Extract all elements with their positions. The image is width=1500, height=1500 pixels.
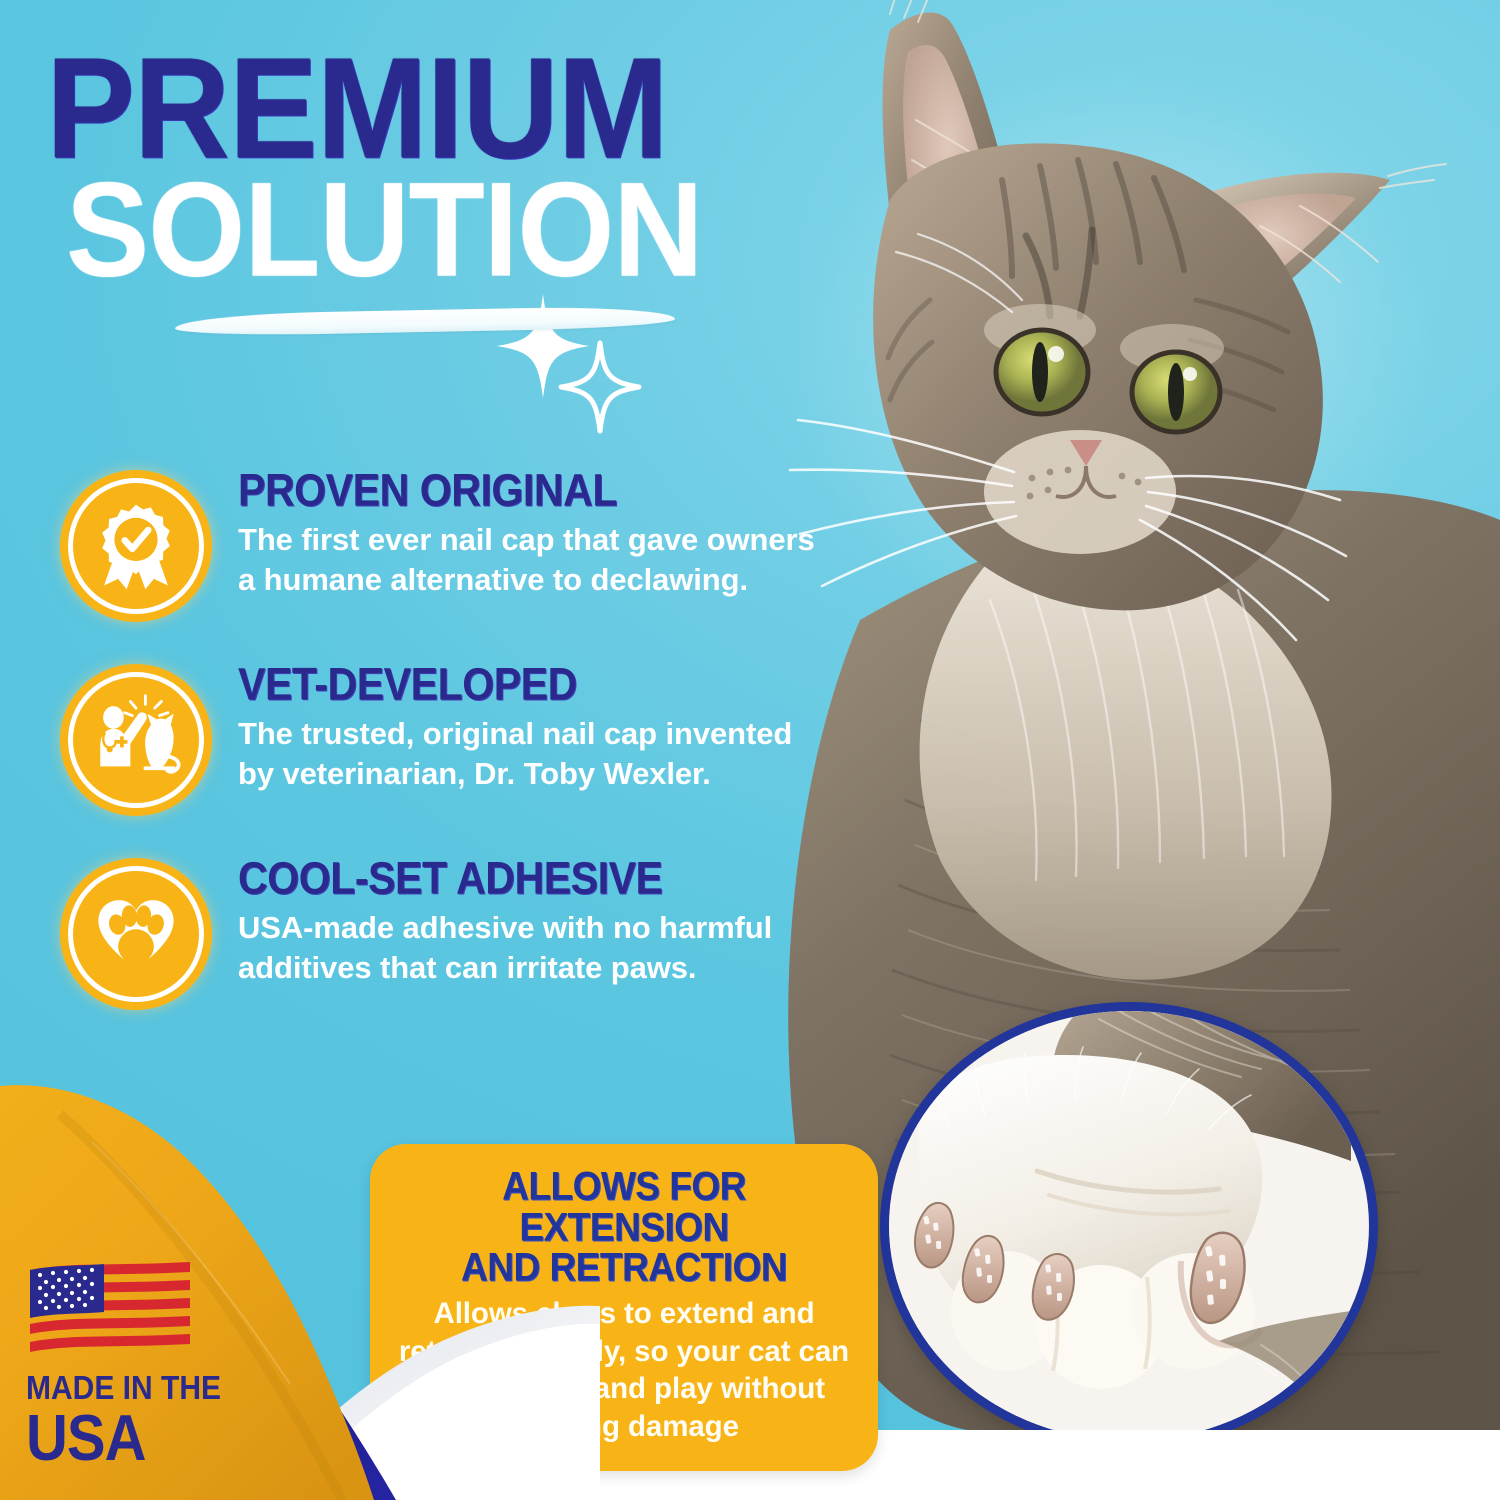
heart-paw-icon	[60, 858, 212, 1010]
feature-title: COOL-SET ADHESIVE	[238, 856, 880, 902]
product-infographic: PREMIUM SOLUTION PROVEN ORIGINAL The	[0, 0, 1500, 1500]
us-flag-icon	[26, 1262, 194, 1358]
feature-title: PROVEN ORIGINAL	[238, 468, 880, 514]
feature-body: The trusted, original nail cap invented …	[238, 714, 828, 795]
feature-text-block: PROVEN ORIGINAL The first ever nail cap …	[212, 462, 880, 600]
feature-text-block: VET-DEVELOPED The trusted, original nail…	[212, 656, 880, 794]
award-ribbon-icon	[60, 470, 212, 622]
feature-body: The first ever nail cap that gave owners…	[238, 520, 828, 601]
feature-title: VET-DEVELOPED	[238, 662, 880, 708]
headline-line-2: SOLUTION	[66, 176, 908, 284]
headline-line-1: PREMIUM	[46, 52, 909, 167]
cat-paw-inset-photo	[880, 1002, 1378, 1450]
feature-item-cool-set-adhesive: COOL-SET ADHESIVE USA-made adhesive with…	[60, 850, 880, 1010]
feature-item-proven-original: PROVEN ORIGINAL The first ever nail cap …	[60, 462, 880, 622]
feature-item-vet-developed: VET-DEVELOPED The trusted, original nail…	[60, 656, 880, 816]
vet-high-five-cat-icon	[60, 664, 212, 816]
headline-block: PREMIUM SOLUTION	[46, 52, 876, 272]
feature-text-block: COOL-SET ADHESIVE USA-made adhesive with…	[212, 850, 880, 988]
sparkle-star-outline-icon	[558, 340, 642, 434]
made-in-usa-badge: MADE IN THE USA	[26, 1262, 256, 1464]
usa-badge-line-2: USA	[26, 1406, 256, 1471]
feature-body: USA-made adhesive with no harmful additi…	[238, 908, 828, 989]
feature-list: PROVEN ORIGINAL The first ever nail cap …	[60, 462, 880, 1044]
